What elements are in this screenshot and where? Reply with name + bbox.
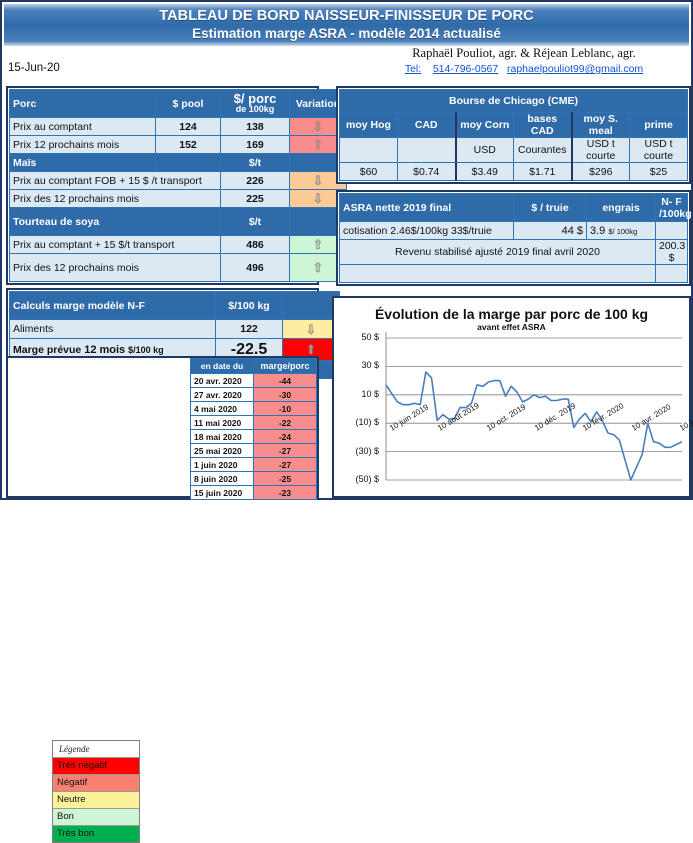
soya-row1-label: Prix des 12 prochains mois (10, 254, 221, 282)
history-date-3: 11 mai 2020 (191, 416, 254, 430)
list-item: 25 mai 2020 -27 (191, 444, 317, 458)
legend-title: Légende (53, 741, 139, 757)
marge-label-months: 12 mois (84, 344, 125, 356)
chart-canvas (334, 298, 689, 496)
list-item: 1 juin 2020 -27 (191, 458, 317, 472)
porc-row1-label: Prix 12 prochains mois (10, 136, 156, 154)
soya-row1-value: 496 (221, 254, 290, 282)
cme-col-0: moy Hog (340, 113, 398, 138)
sub-header: 15-Jun-20 Raphaël Pouliot, agr. & Réjean… (4, 46, 689, 84)
page-title-line2: Estimation marge ASRA - modèle 2014 actu… (192, 26, 501, 41)
history-table: en date du marge/porc 20 avr. 2020 -44 2… (190, 358, 317, 500)
asra-empty-left (340, 265, 656, 283)
history-value-1: -30 (254, 388, 317, 402)
marge-label-unit: $/100 kg (128, 345, 164, 355)
calculs-title: Calculs marge modèle N-F (10, 292, 216, 320)
table-row: Aliments 122 ⇩ (10, 320, 340, 339)
cme-table: Bourse de Chicago (CME) moy Hog CAD moy … (339, 89, 688, 181)
history-header-row: en date du marge/porc (191, 359, 317, 374)
soya-header-row: Tourteau de soya $/t (10, 208, 347, 236)
arrow-up-icon: ⇧ (313, 260, 324, 275)
history-col-margin: marge/porc (254, 359, 317, 374)
mais-header-row: Maïs $/t (10, 154, 347, 172)
history-value-8: -23 (254, 486, 317, 500)
chart-ytick-2: 10 $ (339, 389, 379, 399)
cme-sub-3: Courantes (514, 138, 572, 163)
list-item: 15 juin 2020 -23 (191, 486, 317, 500)
arrow-down-icon: ⇩ (313, 119, 324, 134)
mais-row1-label: Prix des 12 prochains mois (10, 190, 221, 208)
chart-ytick-4: (30) $ (339, 446, 379, 456)
arrow-up-icon: ⬆ (306, 342, 317, 357)
prices-header-row: Porc $ pool $/ porc de 100kg Variation (10, 90, 347, 118)
asra-truie-value: 44 $ (514, 222, 587, 240)
legend-item-neutre: Neutre (53, 791, 139, 808)
history-date-5: 25 mai 2020 (191, 444, 254, 458)
soya-header-unit: $/t (221, 208, 290, 236)
aliments-variation: ⇩ (283, 320, 340, 339)
asra-title: ASRA nette 2019 final (340, 194, 514, 222)
cme-sub-0 (340, 138, 398, 163)
asra-nf-empty (656, 222, 688, 240)
porc-header-label: Porc (10, 90, 156, 118)
arrow-down-icon: ⇩ (313, 191, 324, 206)
list-item: 18 mai 2020 -24 (191, 430, 317, 444)
chart-ytick-1: 30 $ (339, 360, 379, 370)
history-value-5: -27 (254, 444, 317, 458)
cme-sub-2: USD (456, 138, 514, 163)
legend-item-bon: Bon (53, 808, 139, 825)
porc-row0-porc: 138 (221, 118, 290, 136)
cme-table-container: Bourse de Chicago (CME) moy Hog CAD moy … (336, 86, 691, 184)
history-date-2: 4 mai 2020 (191, 402, 254, 416)
porc-header-perporc-a: $/ porc (224, 93, 286, 104)
legend-item-tres-bon: Très bon (53, 825, 139, 842)
porc-header-perporc: $/ porc de 100kg (221, 90, 290, 118)
asra-engrais-value: 3.9 (590, 225, 605, 237)
cme-header-row: moy Hog CAD moy Corn bases CAD moy S. me… (340, 113, 688, 138)
table-row: Prix des 12 prochains mois 225 ⇩ (10, 190, 347, 208)
history-date-0: 20 avr. 2020 (191, 374, 254, 388)
asra-cotisation-row: cotisation 2.46$/100kg 33$/truie 44 $ 3.… (340, 222, 688, 240)
cme-sub-5: USD t courte (630, 138, 688, 163)
cme-col-2: moy Corn (456, 113, 514, 138)
history-date-1: 27 avr. 2020 (191, 388, 254, 402)
history-value-3: -22 (254, 416, 317, 430)
soya-row0-label: Prix au comptant + 15 $/t transport (10, 236, 221, 254)
asra-col-truie: $ / truie (514, 194, 587, 222)
cme-sub-1 (398, 138, 456, 163)
cme-value-2: $3.49 (456, 163, 514, 181)
legend-item-negatif: Négatif (53, 774, 139, 791)
history-date-7: 8 juin 2020 (191, 472, 254, 486)
cme-value-3: $1.71 (514, 163, 572, 181)
porc-row1-pool: 152 (156, 136, 221, 154)
porc-header-pool: $ pool (156, 90, 221, 118)
marge-label-main: Marge prévue (13, 344, 81, 356)
asra-engrais-cell: 3.9 $/ 100kg (587, 222, 656, 240)
cme-value-1: $0.74 (398, 163, 456, 181)
list-item: 11 mai 2020 -22 (191, 416, 317, 430)
history-date-4: 18 mai 2020 (191, 430, 254, 444)
tel-number[interactable]: 514-796-0567 (433, 63, 498, 75)
page-title-line1: TABLEAU DE BORD NAISSEUR-FINISSEUR DE PO… (159, 9, 534, 24)
asra-col-nf: N- F /100kg (656, 194, 688, 222)
chart-ytick-3: (10) $ (339, 417, 379, 427)
table-row: Prix au comptant FOB + 15 $ /t transport… (10, 172, 347, 190)
asra-empty-row (340, 265, 688, 283)
cme-value-5: $25 (630, 163, 688, 181)
mais-header-spacer (156, 154, 221, 172)
calculs-header-row: Calculs marge modèle N-F $/100 kg (10, 292, 340, 320)
cme-title-row: Bourse de Chicago (CME) (340, 90, 688, 113)
list-item: 27 avr. 2020 -30 (191, 388, 317, 402)
table-row: Prix 12 prochains mois 152 169 ⇧ (10, 136, 347, 154)
calculs-header-variation (283, 292, 340, 320)
list-item: 4 mai 2020 -10 (191, 402, 317, 416)
history-col-date: en date du (191, 359, 254, 374)
prices-table-container: Porc $ pool $/ porc de 100kg Variation P… (6, 86, 319, 285)
list-item: 8 juin 2020 -25 (191, 472, 317, 486)
legend-box: Légende Très négatif Négatif Neutre Bon … (52, 740, 140, 843)
arrow-down-icon: ⇩ (313, 173, 324, 188)
tel-label: Tel: (405, 63, 421, 75)
cme-title: Bourse de Chicago (CME) (340, 90, 688, 113)
cme-col-1: CAD (398, 113, 456, 138)
legend-item-tres-negatif: Très négatif (53, 757, 139, 774)
soya-header-label: Tourteau de soya (10, 208, 221, 236)
history-date-6: 1 juin 2020 (191, 458, 254, 472)
history-value-6: -27 (254, 458, 317, 472)
list-item: 20 avr. 2020 -44 (191, 374, 317, 388)
dashboard-page: TABLEAU DE BORD NAISSEUR-FINISSEUR DE PO… (0, 0, 693, 500)
asra-empty-right (656, 265, 688, 283)
chart-ytick-0: 50 $ (339, 332, 379, 342)
aliments-value: 122 (216, 320, 283, 339)
arrow-up-icon: ⇧ (313, 137, 324, 152)
asra-table: ASRA nette 2019 final $ / truie engrais … (339, 193, 688, 283)
chart-ytick-5: (50) $ (339, 474, 379, 484)
cme-col-5: prime (630, 113, 688, 138)
table-row: Prix au comptant 124 138 ⇩ (10, 118, 347, 136)
asra-header-row: ASRA nette 2019 final $ / truie engrais … (340, 194, 688, 222)
asra-revenu-row: Revenu stabilisé ajusté 2019 final avril… (340, 240, 688, 265)
cme-values-row: $60 $0.74 $3.49 $1.71 $296 $25 (340, 163, 688, 181)
history-value-7: -25 (254, 472, 317, 486)
mais-row0-value: 226 (221, 172, 290, 190)
calculs-unit: $/100 kg (216, 292, 283, 320)
authors-line: Raphaël Pouliot, agr. & Réjean Leblanc, … (359, 46, 689, 61)
cme-sub-4: USD t courte (572, 138, 630, 163)
arrow-up-icon: ⇧ (313, 237, 324, 252)
history-container: Légende Très négatif Négatif Neutre Bon … (6, 356, 319, 498)
arrow-down-icon: ⇩ (306, 322, 317, 337)
cme-value-4: $296 (572, 163, 630, 181)
table-row: Prix des 12 prochains mois 496 ⇧ (10, 254, 347, 282)
porc-row0-pool: 124 (156, 118, 221, 136)
cme-col-4: moy S. meal (572, 113, 630, 138)
mais-header-label: Maïs (10, 154, 156, 172)
history-date-8: 15 juin 2020 (191, 486, 254, 500)
prices-table: Porc $ pool $/ porc de 100kg Variation P… (9, 89, 347, 282)
asra-revenu-label: Revenu stabilisé ajusté 2019 final avril… (340, 240, 656, 265)
asra-engrais-unit: $/ 100kg (608, 227, 637, 236)
history-value-4: -24 (254, 430, 317, 444)
cme-value-0: $60 (340, 163, 398, 181)
history-value-0: -44 (254, 374, 317, 388)
mais-header-unit: $/t (221, 154, 290, 172)
email-link[interactable]: raphaelpouliot99@gmail.com (507, 63, 643, 75)
porc-row1-porc: 169 (221, 136, 290, 154)
asra-revenu-value: 200.3 $ (656, 240, 688, 265)
contact-line: Tel: 514-796-0567 raphaelpouliot99@gmail… (356, 63, 692, 75)
report-date: 15-Jun-20 (8, 62, 60, 74)
soya-row0-value: 486 (221, 236, 290, 254)
mais-row1-value: 225 (221, 190, 290, 208)
history-value-2: -10 (254, 402, 317, 416)
cme-subheader-row: USD Courantes USD t courte USD t courte (340, 138, 688, 163)
asra-cotisation-label: cotisation 2.46$/100kg 33$/truie (340, 222, 514, 240)
asra-table-container: ASRA nette 2019 final $ / truie engrais … (336, 190, 691, 286)
table-row: Prix au comptant + 15 $/t transport 486 … (10, 236, 347, 254)
cme-col-3: bases CAD (514, 113, 572, 138)
asra-col-engrais: engrais (587, 194, 656, 222)
page-title-banner: TABLEAU DE BORD NAISSEUR-FINISSEUR DE PO… (4, 4, 689, 46)
margin-evolution-chart: Évolution de la marge par porc de 100 kg… (332, 296, 691, 498)
aliments-label: Aliments (10, 320, 216, 339)
porc-row0-label: Prix au comptant (10, 118, 156, 136)
mais-row0-label: Prix au comptant FOB + 15 $ /t transport (10, 172, 221, 190)
